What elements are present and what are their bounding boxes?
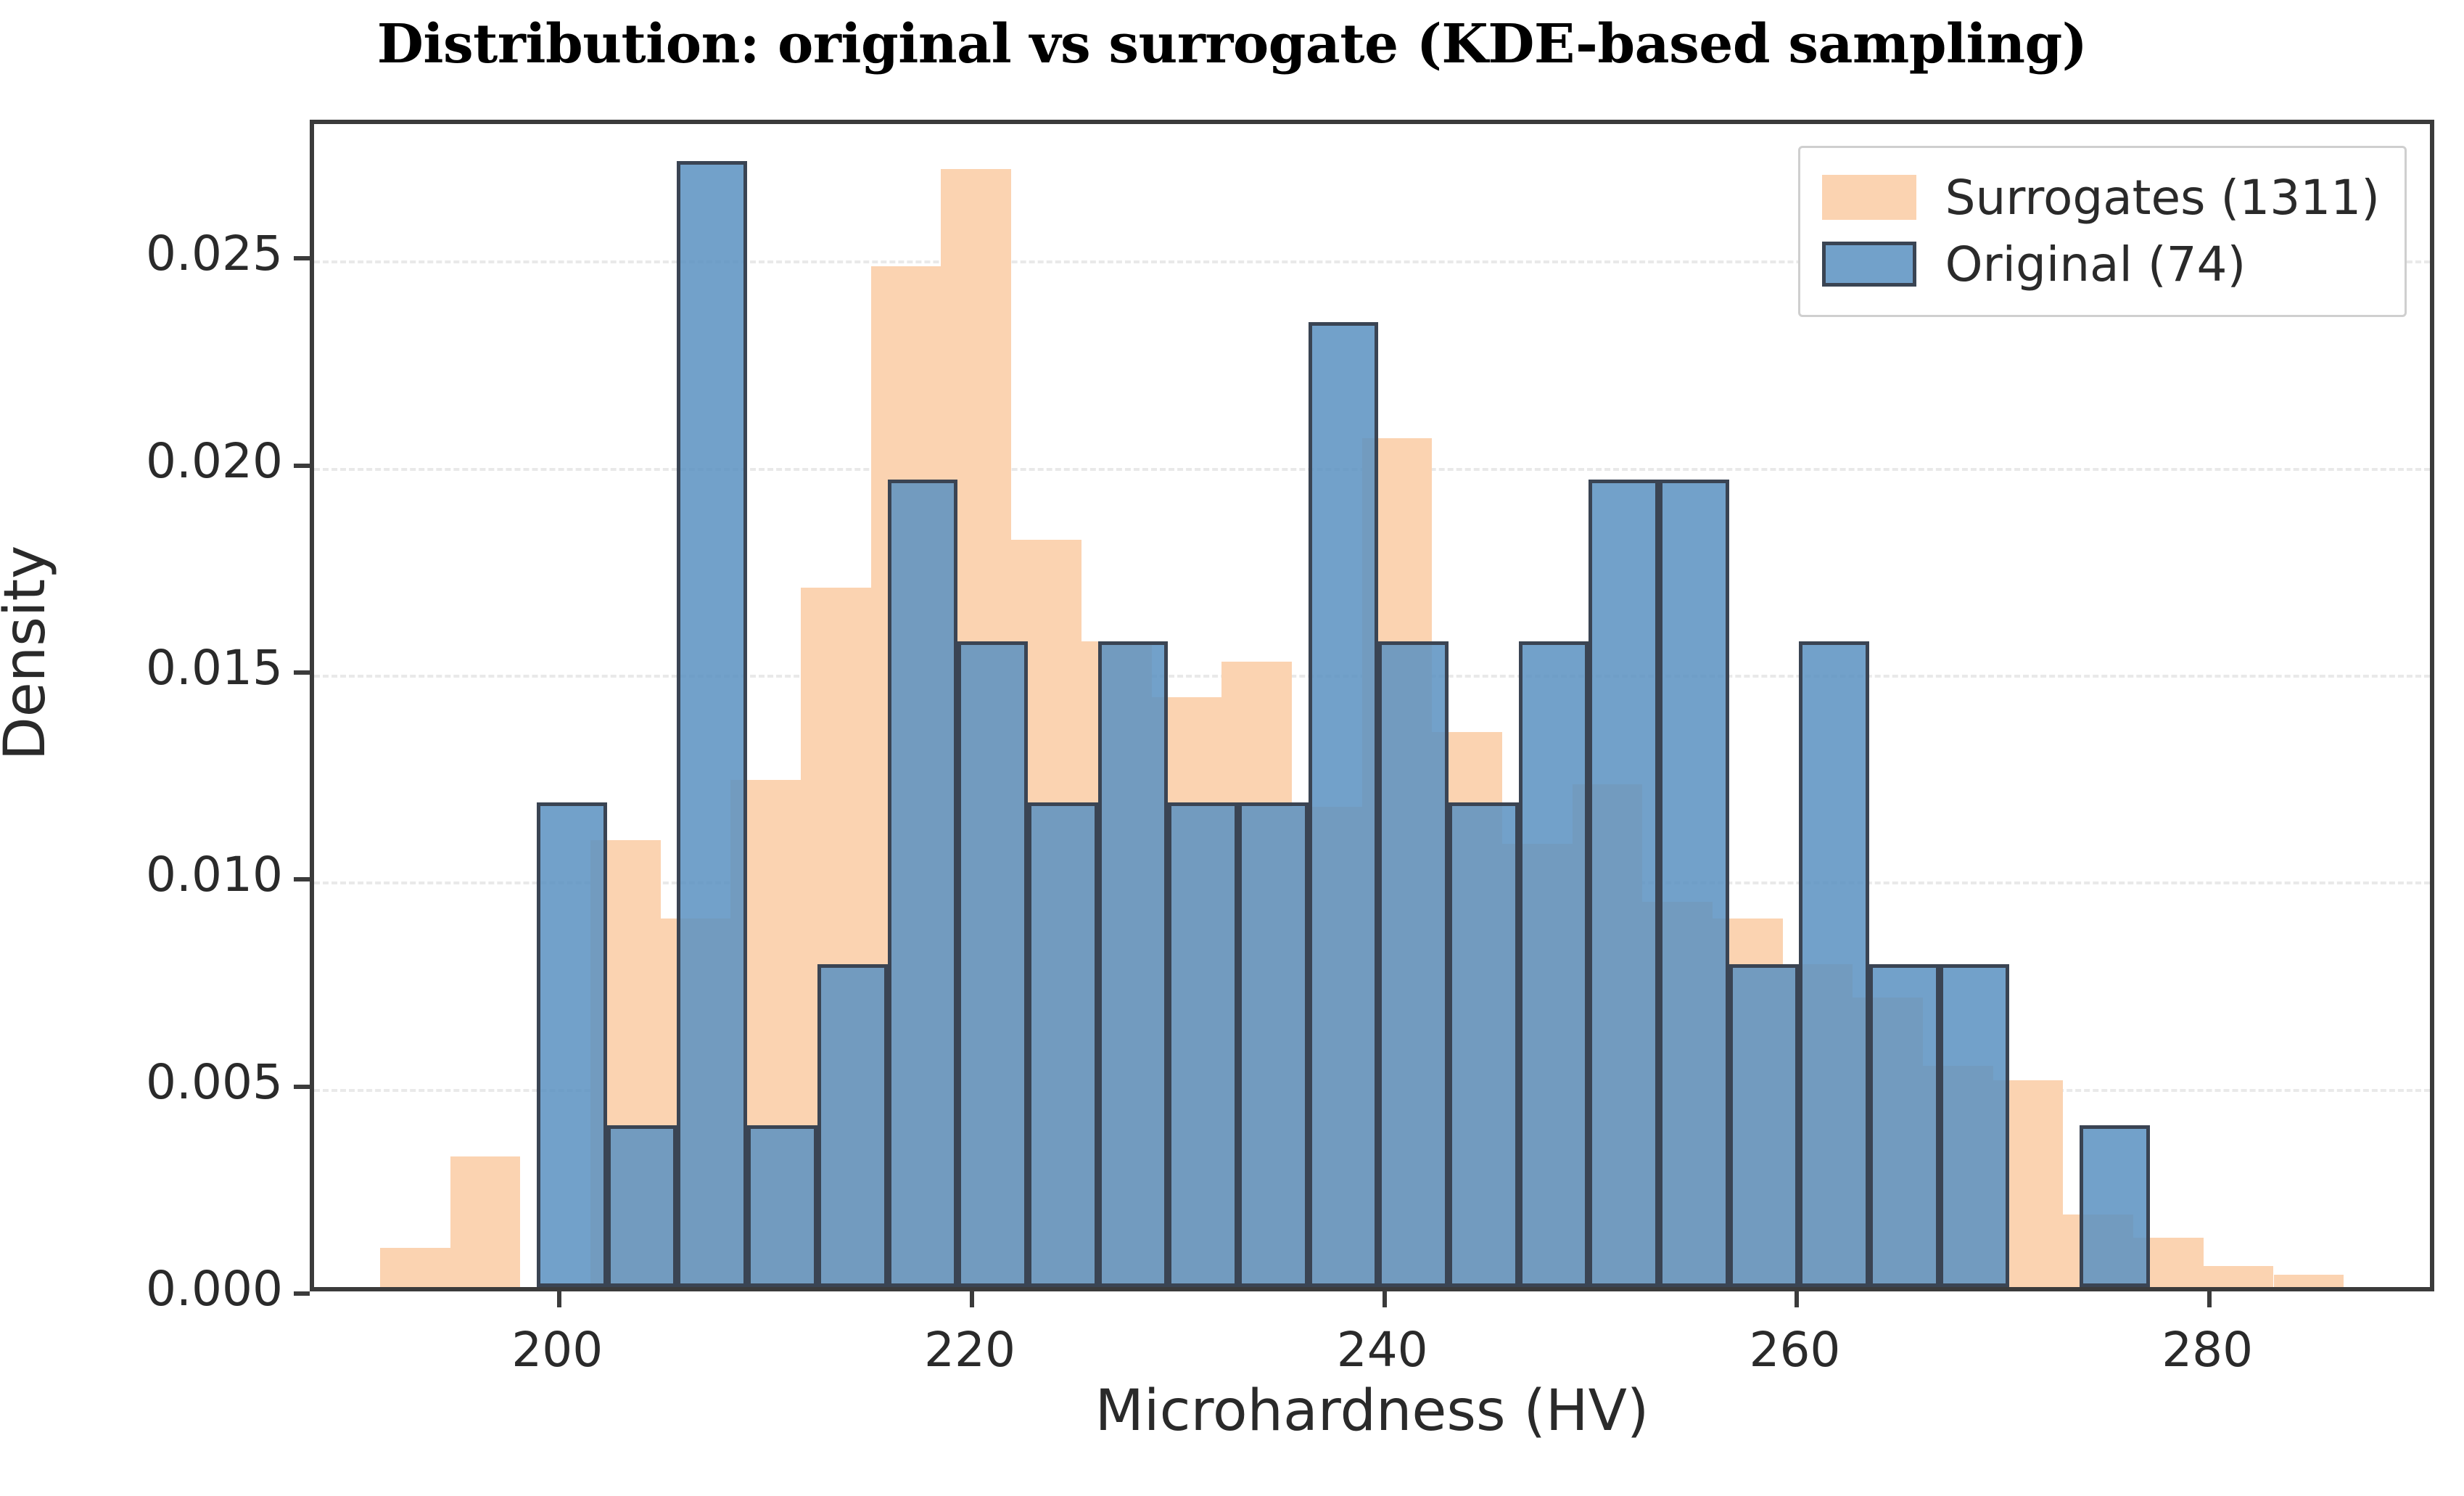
y-axis-label: Density <box>0 399 58 907</box>
legend-swatch-surrogate <box>1822 175 1916 220</box>
histogram-bar <box>2274 1275 2344 1287</box>
x-axis-label: Microhardness (HV) <box>310 1378 2434 1444</box>
histogram-bar <box>1589 480 1659 1287</box>
y-axis-tick-label: 0.000 <box>58 1261 283 1317</box>
histogram-bar <box>1799 641 1869 1287</box>
y-axis-tick-label: 0.005 <box>58 1054 283 1110</box>
x-axis-tick-label: 200 <box>448 1322 666 1378</box>
x-axis-tick-mark <box>557 1291 561 1307</box>
legend-item[interactable]: Surrogates (1311) <box>1822 164 2380 231</box>
histogram-bar <box>607 1125 677 1287</box>
plot-area: Surrogates (1311)Original (74) <box>310 120 2434 1291</box>
y-axis-tick-label: 0.020 <box>58 433 283 489</box>
x-axis-tick-label: 260 <box>1686 1322 1903 1378</box>
histogram-bar <box>1449 802 1519 1287</box>
histogram-bar <box>1098 641 1169 1287</box>
y-axis-tick-label: 0.025 <box>58 226 283 281</box>
histogram-bar <box>2204 1266 2274 1287</box>
x-axis-tick-mark <box>1795 1291 1799 1307</box>
y-axis-tick-mark <box>294 1291 310 1296</box>
histogram-bar <box>677 161 747 1287</box>
legend-label: Surrogates (1311) <box>1945 170 2380 226</box>
histogram-bar <box>888 480 958 1287</box>
x-axis-tick-mark <box>970 1291 974 1307</box>
legend-item[interactable]: Original (74) <box>1822 231 2380 297</box>
chart-legend[interactable]: Surrogates (1311)Original (74) <box>1798 146 2407 317</box>
page-title: Distribution: original vs surrogate (KDE… <box>0 13 2464 75</box>
histogram-bar <box>1940 964 2010 1287</box>
x-axis-tick-mark <box>1383 1291 1387 1307</box>
y-axis-tick-label: 0.015 <box>58 640 283 696</box>
histogram-bar <box>380 1248 450 1287</box>
histogram-bar <box>957 641 1028 1287</box>
histogram-bar <box>1378 641 1449 1287</box>
y-axis-tick-mark <box>294 464 310 468</box>
chart-figure: Distribution: original vs surrogate (KDE… <box>0 0 2464 1496</box>
x-axis-tick-mark <box>2207 1291 2212 1307</box>
x-axis-tick-label: 220 <box>861 1322 1079 1378</box>
histogram-bar <box>747 1125 817 1287</box>
legend-swatch-original <box>1822 242 1916 287</box>
y-axis-tick-mark <box>294 877 310 881</box>
y-axis-tick-mark <box>294 1085 310 1089</box>
histogram-bar <box>1168 802 1238 1287</box>
x-axis-tick-label: 240 <box>1274 1322 1491 1378</box>
histogram-bar <box>537 802 607 1287</box>
legend-label: Original (74) <box>1945 237 2246 292</box>
histogram-bar <box>1659 480 1729 1287</box>
histogram-bar <box>1028 802 1098 1287</box>
histogram-bar <box>1519 641 1589 1287</box>
histogram-bar <box>1309 322 1379 1287</box>
x-axis-tick-label: 280 <box>2098 1322 2316 1378</box>
histogram-bar <box>1729 964 1800 1287</box>
y-axis-tick-mark <box>294 256 310 260</box>
y-axis-tick-label: 0.010 <box>58 847 283 903</box>
histogram-bar <box>1238 802 1309 1287</box>
histogram-bar <box>1869 964 1940 1287</box>
histogram-bar <box>817 964 888 1287</box>
histogram-bar <box>450 1156 521 1287</box>
y-axis-tick-mark <box>294 670 310 675</box>
histogram-bar <box>2080 1125 2150 1287</box>
